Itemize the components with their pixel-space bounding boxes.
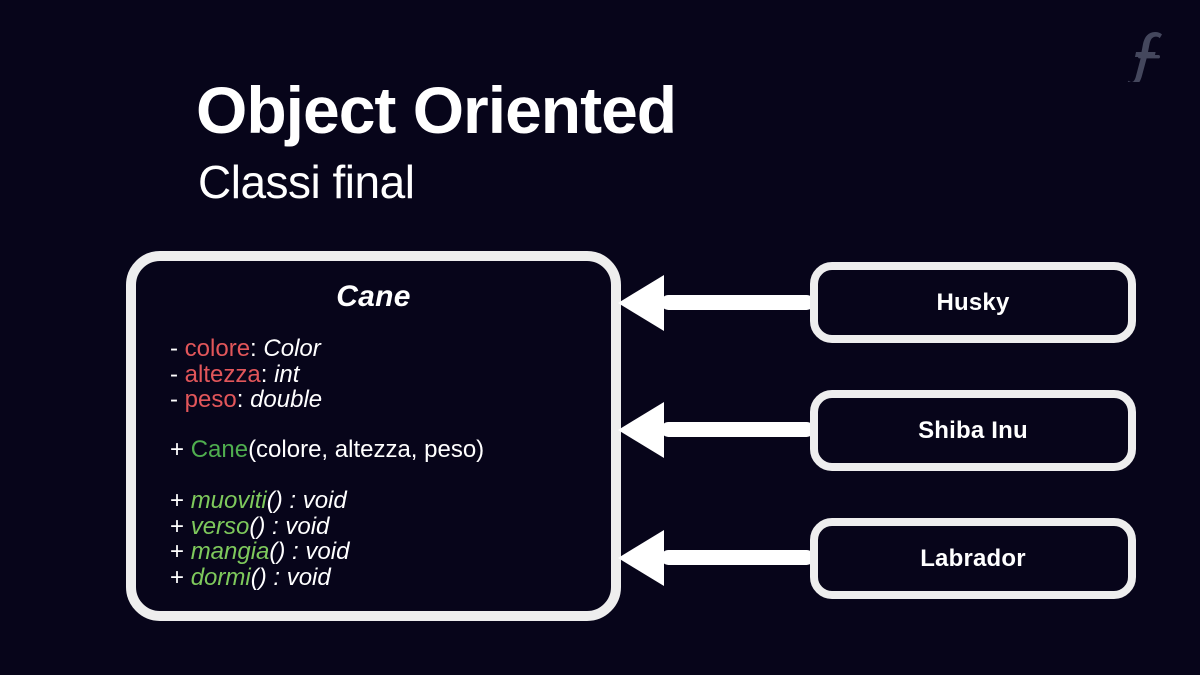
inheritance-arrow-labrador (616, 527, 814, 589)
inheritance-arrow-shiba-inu (616, 399, 814, 461)
attribute-type: Color (263, 335, 320, 362)
class-attribute-row: - colore: Color (170, 336, 611, 362)
class-attributes-section: - colore: Color - altezza: int - peso: d… (136, 336, 611, 413)
operation-visibility: + (170, 513, 184, 540)
operation-name: muoviti (191, 487, 267, 514)
inheritance-arrow-husky (616, 272, 814, 334)
class-operation-row: + verso() : void (170, 514, 611, 540)
attribute-separator: : (250, 335, 257, 362)
attribute-type: double (250, 386, 322, 413)
subclass-label: Labrador (920, 545, 1026, 573)
page-subtitle: Classi final (198, 155, 414, 209)
subclass-box-shiba-inu: Shiba Inu (810, 390, 1136, 471)
attribute-name: peso (185, 386, 237, 413)
attribute-type: int (274, 361, 299, 388)
class-constructor-row: + Cane(colore, altezza, peso) (170, 437, 611, 463)
page-title: Object Oriented (196, 72, 676, 148)
class-operation-row: + muoviti() : void (170, 488, 611, 514)
subclass-label: Shiba Inu (918, 417, 1028, 445)
class-constructor-section: + Cane(colore, altezza, peso) (136, 437, 611, 463)
attribute-visibility: - (170, 361, 178, 388)
operation-visibility: + (170, 564, 184, 591)
constructor-name: Cane (191, 436, 248, 463)
operation-signature: () : void (269, 538, 349, 565)
attribute-name: altezza (185, 361, 261, 388)
operation-name: dormi (191, 564, 251, 591)
class-operation-row: + mangia() : void (170, 539, 611, 565)
operation-name: mangia (191, 538, 270, 565)
constructor-params: (colore, altezza, peso) (248, 436, 484, 463)
operation-name: verso (191, 513, 250, 540)
attribute-name: colore (185, 335, 250, 362)
subclass-box-husky: Husky (810, 262, 1136, 343)
class-operation-row: + dormi() : void (170, 565, 611, 591)
subclass-box-labrador: Labrador (810, 518, 1136, 599)
attribute-visibility: - (170, 386, 178, 413)
operation-signature: () : void (251, 564, 331, 591)
class-attribute-row: - peso: double (170, 387, 611, 413)
constructor-visibility: + (170, 436, 184, 463)
attribute-separator: : (237, 386, 244, 413)
operation-signature: () : void (267, 487, 347, 514)
script-f-logo-icon (1122, 26, 1174, 82)
slide-canvas: Object Oriented Classi final Cane - colo… (0, 0, 1200, 675)
attribute-separator: : (261, 361, 268, 388)
class-name-label: Cane (136, 280, 611, 314)
uml-class-box-cane: Cane - colore: Color - altezza: int - pe… (126, 251, 621, 621)
class-attribute-row: - altezza: int (170, 362, 611, 388)
class-operations-section: + muoviti() : void + verso() : void + ma… (136, 488, 611, 590)
operation-signature: () : void (249, 513, 329, 540)
operation-visibility: + (170, 538, 184, 565)
attribute-visibility: - (170, 335, 178, 362)
subclass-label: Husky (936, 289, 1009, 317)
operation-visibility: + (170, 487, 184, 514)
